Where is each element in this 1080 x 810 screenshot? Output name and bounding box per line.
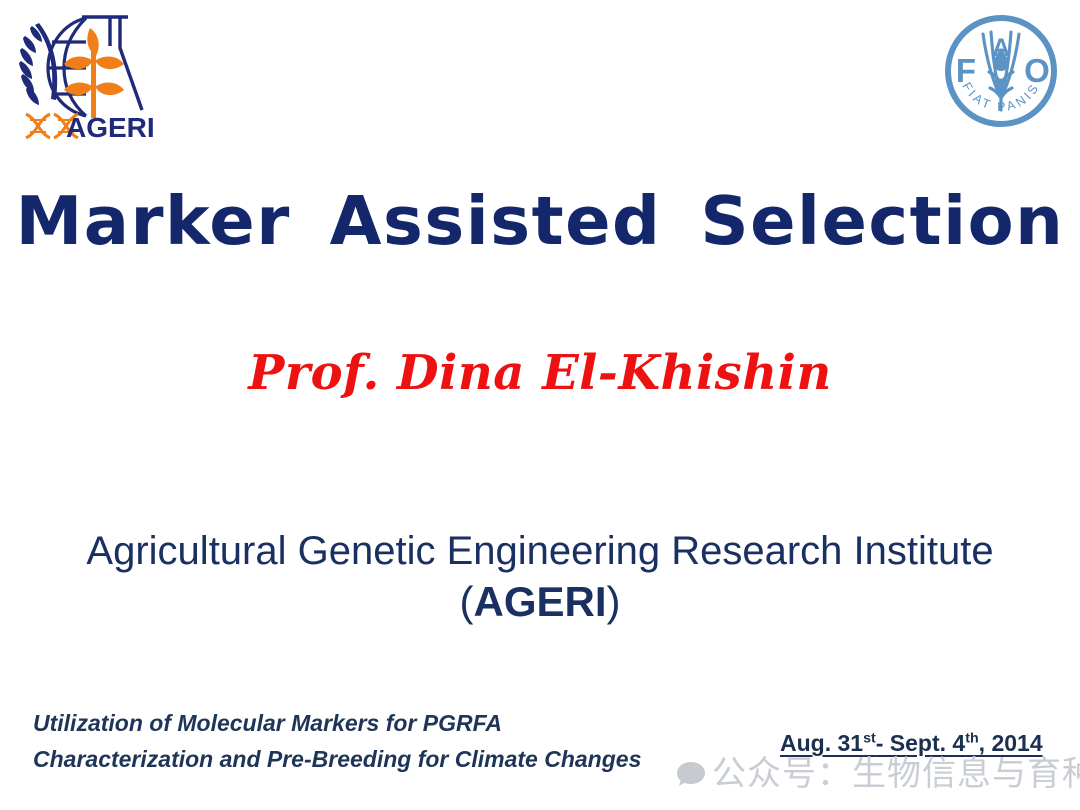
institute-name: Agricultural Genetic Engineering Researc… [0,528,1080,574]
date-prefix: Aug. 31 [780,730,863,756]
institute-block: Agricultural Genetic Engineering Researc… [0,528,1080,626]
date-suffix: , 2014 [979,730,1043,756]
acronym-close-paren: ) [607,578,621,625]
institute-acronym: (AGERI) [0,578,1080,626]
svg-text:O: O [1024,52,1050,89]
date-ordinal-1: st [863,730,876,746]
date-ordinal-2: th [965,730,978,746]
slide-title: Marker Assisted Selection [0,186,1080,256]
presenter-name: Prof. Dina El-Khishin [0,345,1080,401]
wheat-icon [19,23,57,105]
ageri-logo: AGERI [8,6,158,142]
watermark: 公众号：生物信息与育种 [676,757,1080,791]
event-subtitle: Utilization of Molecular Markers for PGR… [33,706,641,777]
event-date: Aug. 31st- Sept. 4th, 2014 [780,730,1043,757]
date-middle: - Sept. 4 [876,730,965,756]
acronym-text: AGERI [473,578,606,625]
speech-bubble-icon [676,760,706,788]
event-subtitle-line-2: Characterization and Pre-Breeding for Cl… [33,742,641,778]
svg-text:A: A [992,34,1010,62]
ageri-wordmark: AGERI [66,112,155,142]
fao-logo: F A O FIAT PANIS [940,10,1062,132]
presentation-slide: AGERI F A O [0,0,1080,810]
acronym-open-paren: ( [459,578,473,625]
event-subtitle-line-1: Utilization of Molecular Markers for PGR… [33,706,641,742]
watermark-text: 公众号：生物信息与育种 [712,757,1080,791]
